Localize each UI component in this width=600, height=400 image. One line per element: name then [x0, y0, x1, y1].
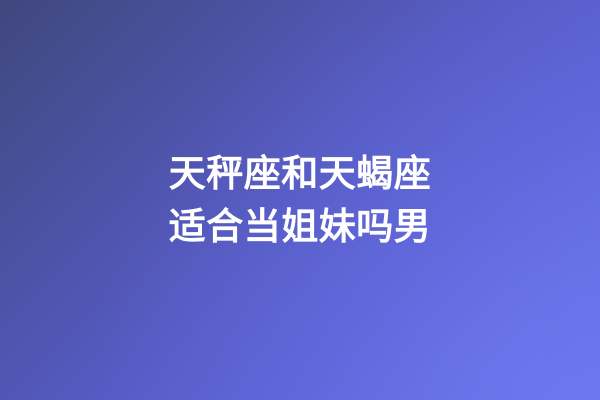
title-line-2: 适合当姐妹吗男 — [0, 200, 600, 253]
title-line-1: 天秤座和天蝎座 — [0, 147, 600, 200]
cover-card: 天秤座和天蝎座 适合当姐妹吗男 — [0, 0, 600, 400]
page-title: 天秤座和天蝎座 适合当姐妹吗男 — [0, 147, 600, 253]
